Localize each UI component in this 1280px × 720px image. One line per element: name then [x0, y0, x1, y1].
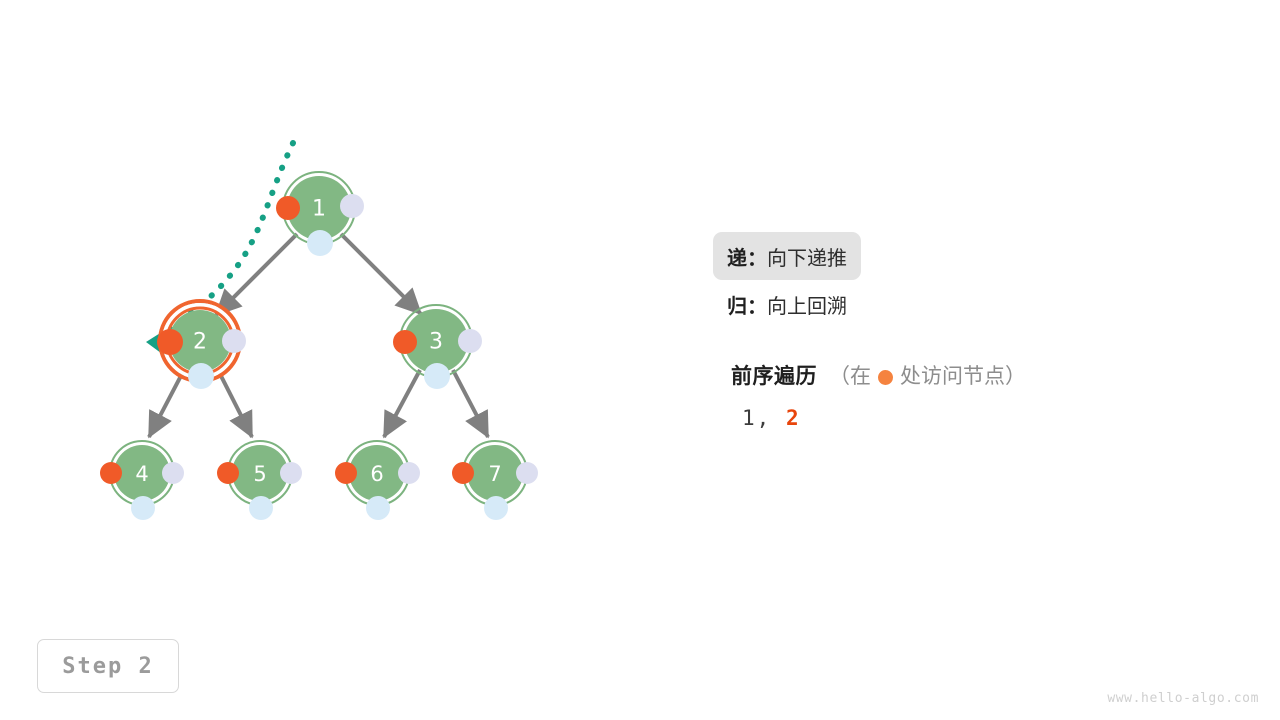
step-badge-label: Step 2	[62, 654, 153, 679]
legend-descend-value: 向下递推	[767, 242, 847, 271]
node-3-postorder-marker-icon	[424, 363, 450, 389]
node-6-inorder-marker-icon	[398, 462, 420, 484]
node-7-preorder-marker-icon	[452, 462, 474, 484]
tree-node-5[interactable]: 5	[217, 441, 302, 520]
node-7-postorder-marker-icon	[484, 496, 508, 520]
node-5-label: 5	[253, 462, 266, 486]
node-4-postorder-marker-icon	[131, 496, 155, 520]
node-4-label: 4	[135, 462, 148, 486]
recursion-legend: 递： 向下递推 归： 向上回溯	[727, 232, 1247, 328]
watermark: www.hello-algo.com	[1107, 691, 1259, 706]
edge-n3-n6	[384, 370, 420, 437]
traversal-note-after: 处访问节点）	[900, 365, 1026, 388]
node-3-inorder-marker-icon	[458, 329, 482, 353]
edge-n2-n5	[218, 370, 252, 437]
node-6-postorder-marker-icon	[366, 496, 390, 520]
node-3-preorder-marker-icon	[393, 330, 417, 354]
step-badge: Step 2	[37, 639, 179, 693]
legend-ascend-key: 归：	[727, 290, 767, 319]
node-1-preorder-marker-icon	[276, 196, 300, 220]
node-5-postorder-marker-icon	[249, 496, 273, 520]
tree-node-4[interactable]: 4	[100, 441, 184, 520]
tree-node-3[interactable]: 3	[393, 305, 482, 389]
traversal-sequence-current: 2	[786, 406, 801, 430]
tree-node-6[interactable]: 6	[335, 441, 420, 520]
traversal-title: 前序遍历	[731, 360, 817, 390]
node-6-label: 6	[370, 462, 383, 486]
traversal-title-row: 前序遍历 （在处访问节点）	[731, 360, 1251, 390]
node-1-label: 1	[312, 197, 326, 222]
node-5-inorder-marker-icon	[280, 462, 302, 484]
orange-dot-icon	[878, 370, 893, 385]
traversal-sequence-past: 1,	[742, 406, 771, 430]
node-3-label: 3	[429, 330, 443, 355]
tree-node-7[interactable]: 7	[452, 441, 538, 520]
node-2-label: 2	[193, 330, 207, 355]
legend-ascend-value: 向上回溯	[767, 290, 847, 319]
traversal-sequence: 1, 2	[742, 406, 1251, 430]
traversal-note-before: （在	[829, 365, 871, 388]
edge-n2-n4	[149, 370, 184, 437]
node-2-inorder-marker-icon	[222, 329, 246, 353]
illustration-canvas: 1 2 3 4	[0, 0, 1280, 720]
node-7-label: 7	[488, 462, 501, 486]
node-1-postorder-marker-icon	[307, 230, 333, 256]
tree-node-2[interactable]: 2	[157, 301, 246, 389]
node-2-preorder-marker-icon	[157, 329, 183, 355]
edge-n3-n7	[453, 370, 488, 437]
node-4-preorder-marker-icon	[100, 462, 122, 484]
node-5-preorder-marker-icon	[217, 462, 239, 484]
node-7-inorder-marker-icon	[516, 462, 538, 484]
legend-descend-key: 递：	[727, 242, 767, 271]
traversal-note: （在处访问节点）	[829, 360, 1026, 390]
node-2-postorder-marker-icon	[188, 363, 214, 389]
legend-row-ascend: 归： 向上回溯	[727, 280, 1247, 328]
node-1-inorder-marker-icon	[340, 194, 364, 218]
legend-row-descend: 递： 向下递推	[713, 232, 861, 280]
traversal-info: 前序遍历 （在处访问节点） 1, 2	[731, 360, 1251, 430]
edge-n1-n3	[341, 234, 421, 314]
node-6-preorder-marker-icon	[335, 462, 357, 484]
node-4-inorder-marker-icon	[162, 462, 184, 484]
